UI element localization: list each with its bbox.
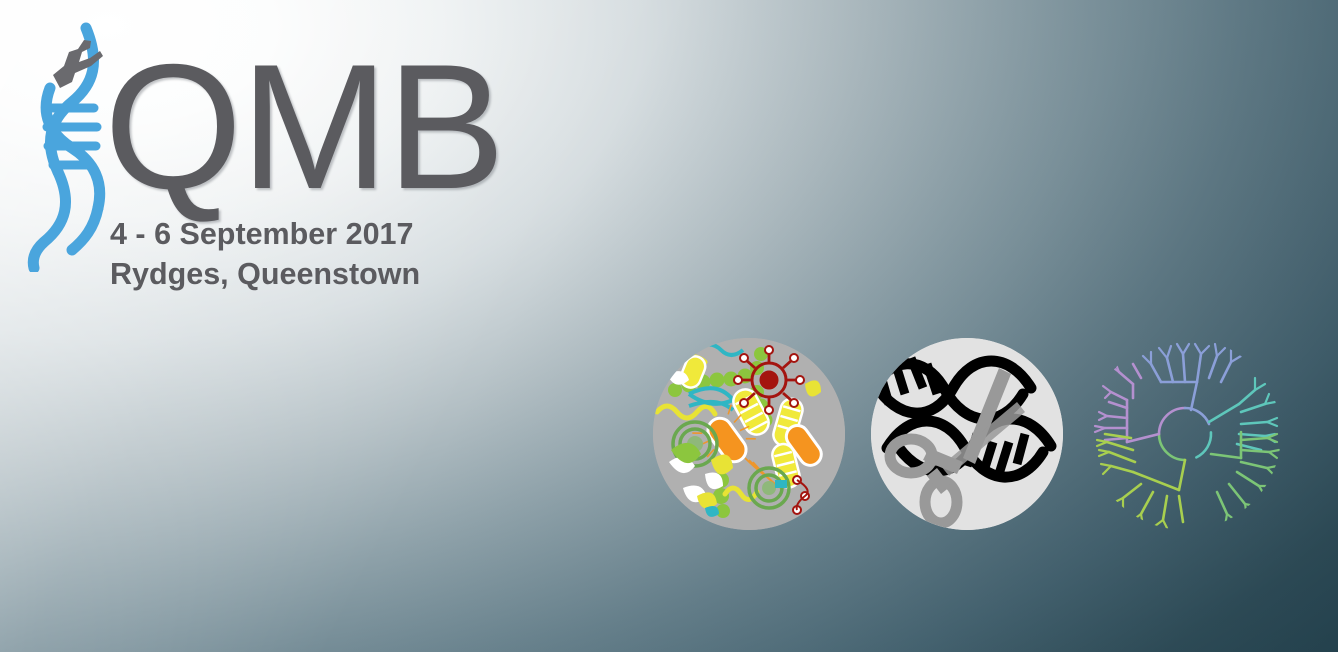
qmb-logo: QMB 4 - 6 September 2017 Rydges, Queenst… (0, 8, 470, 298)
conference-poster: QMB 4 - 6 September 2017 Rydges, Queenst… (0, 0, 1338, 652)
event-venue: Rydges, Queenstown (110, 254, 470, 294)
microbiome-circle-icon (653, 338, 845, 530)
event-dates: 4 - 6 September 2017 (110, 214, 470, 254)
event-details: 4 - 6 September 2017 Rydges, Queenstown (110, 214, 470, 295)
qmb-wordmark: QMB (104, 52, 503, 202)
crispr-circle-icon (871, 338, 1063, 530)
phylogeny-circle-icon (1089, 338, 1281, 530)
theme-circles (653, 338, 1338, 538)
